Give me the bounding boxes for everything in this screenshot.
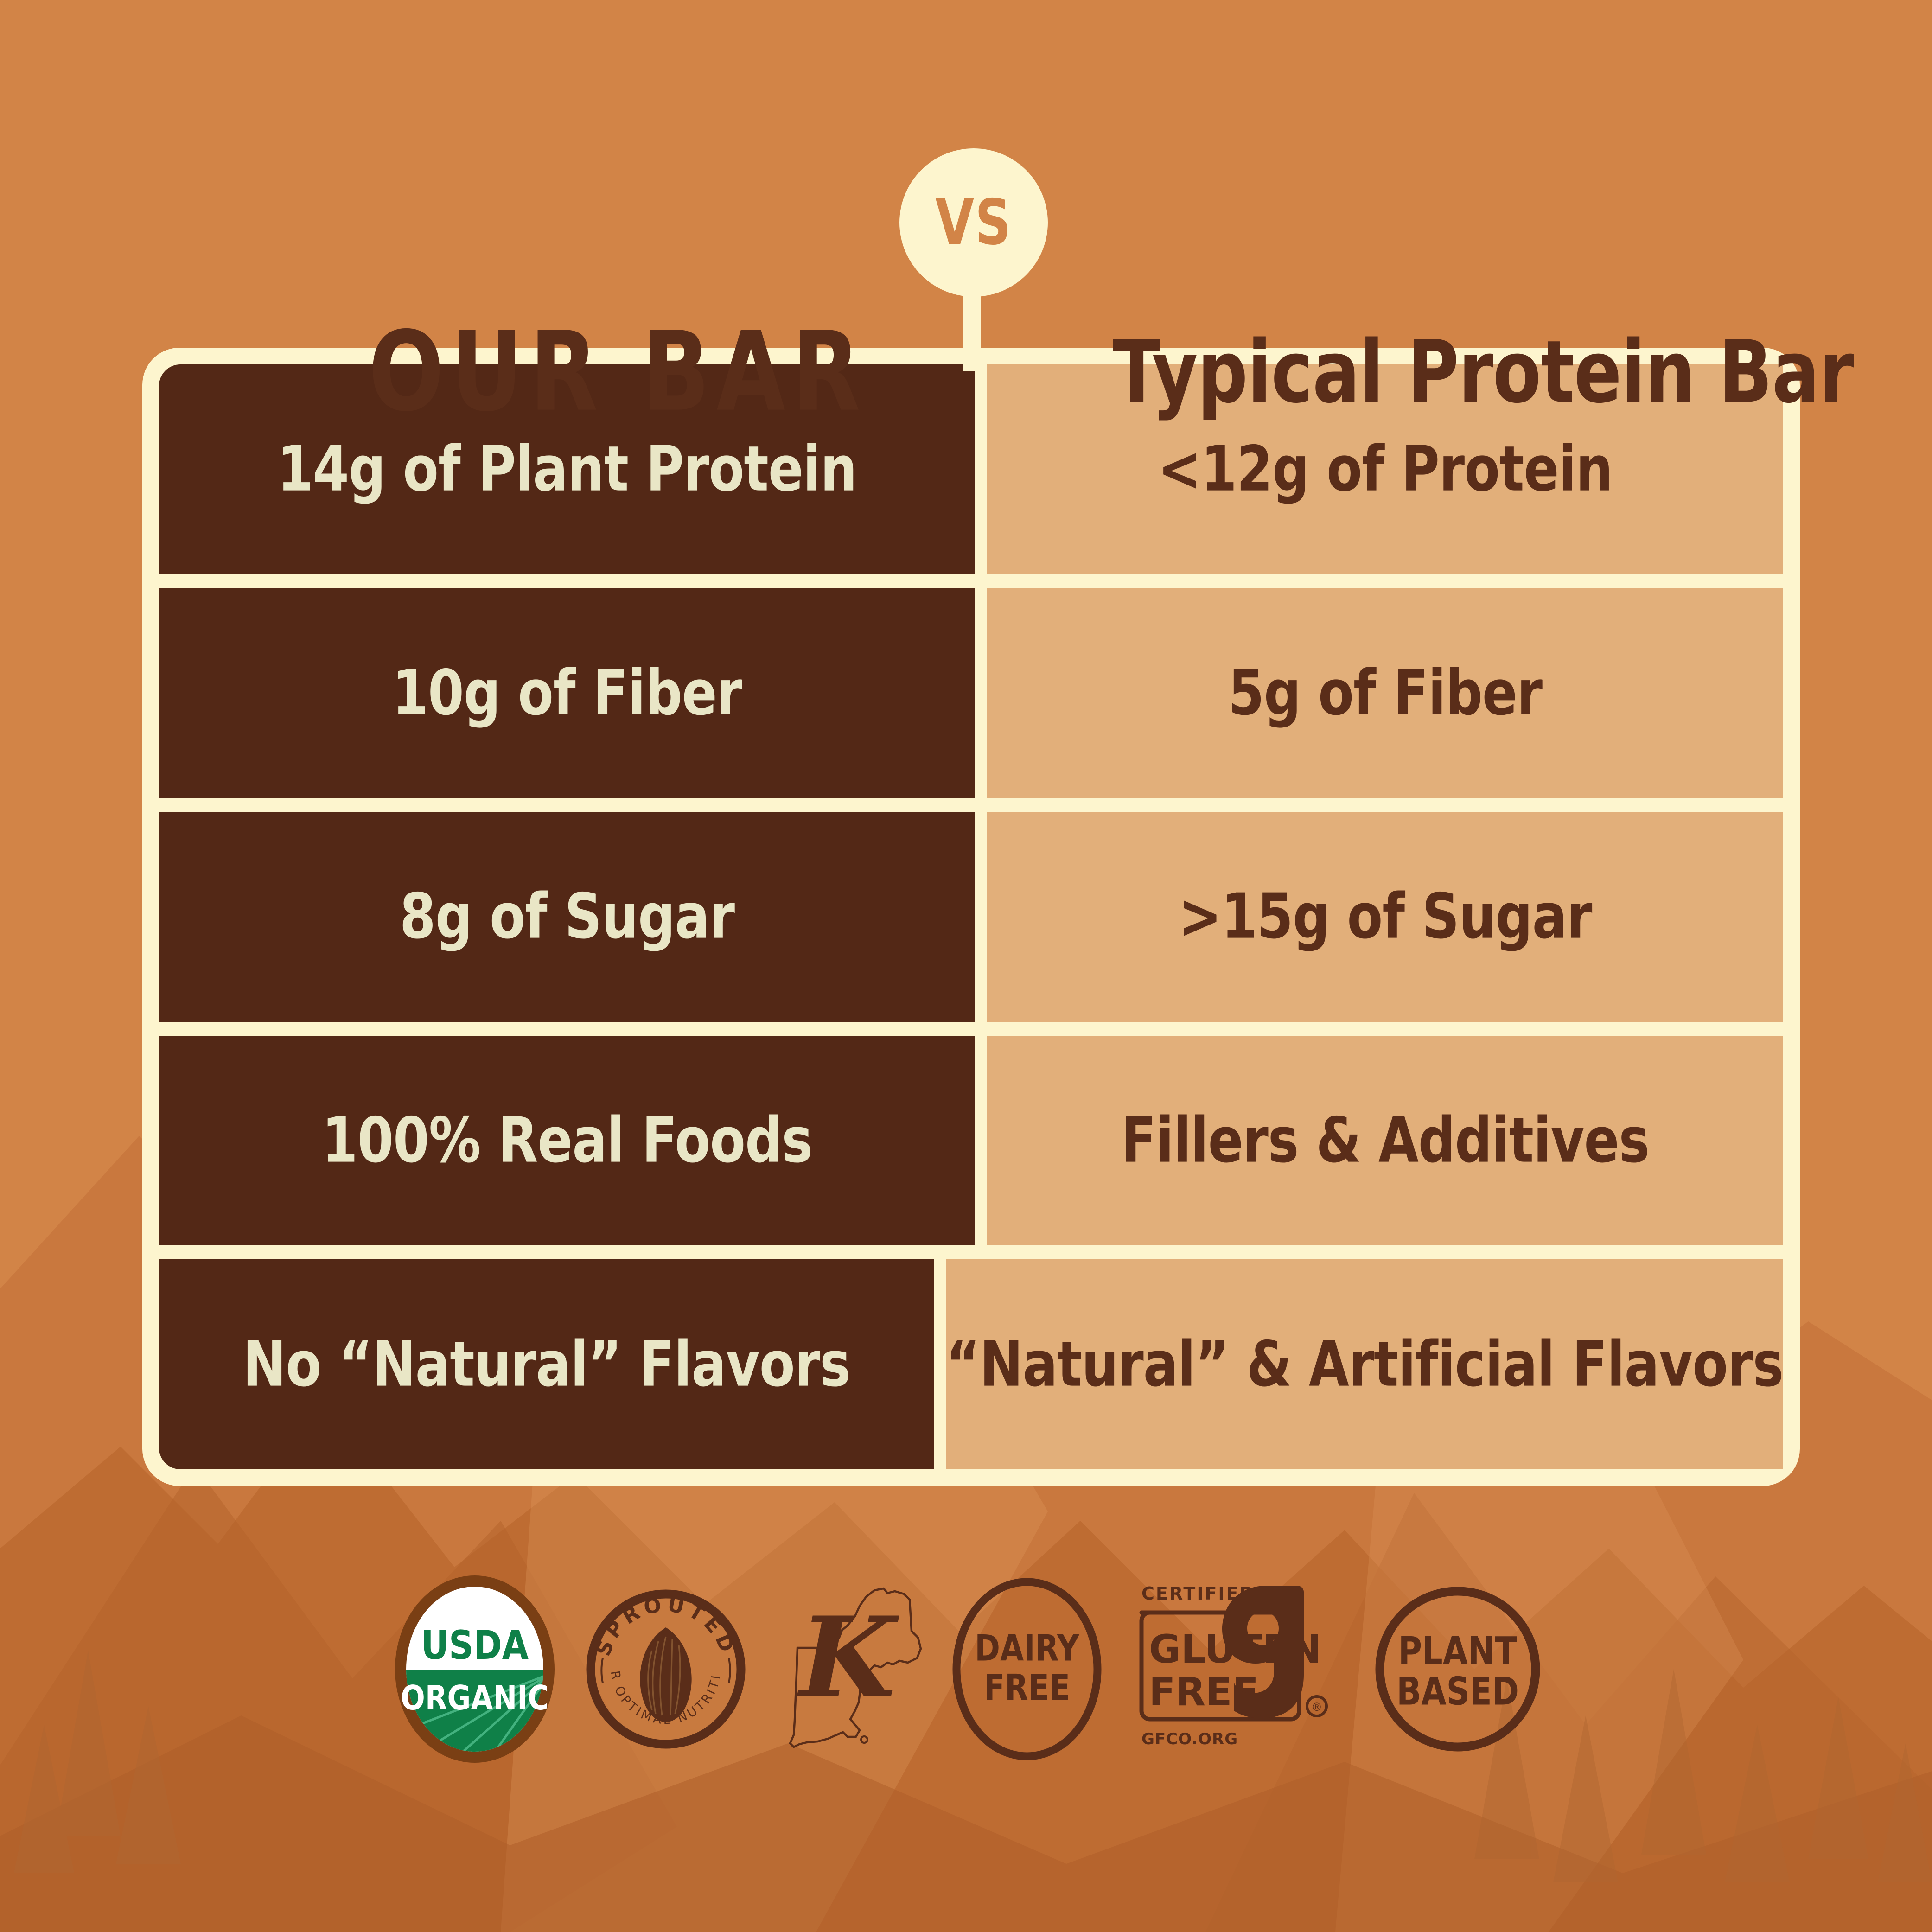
- comparison-table: 14g of Plant Protein <12g of Protein 10g…: [142, 348, 1800, 1486]
- sprouted-icon: SPROUTED FOR OPTIMAL NUTRITION: [582, 1576, 749, 1762]
- page-title-typical: Typical Protein Bar: [1113, 319, 1853, 426]
- certification-badge-row: USDA ORGANIC: [0, 1567, 1932, 1771]
- cell-our-bar-fiber: 10g of Fiber: [159, 588, 975, 798]
- kosher-k-letter: K: [797, 1593, 899, 1722]
- vs-badge: VS: [899, 148, 1048, 297]
- usda-organic-line2: ORGANIC: [401, 1679, 549, 1718]
- cell-our-bar-sugar: 8g of Sugar: [159, 812, 975, 1022]
- dairy-free-line1: DAIRY: [975, 1628, 1079, 1670]
- cell-typical-fiber: 5g of Fiber: [987, 588, 1783, 798]
- plant-based-icon: PLANT BASED: [1374, 1581, 1541, 1757]
- page-title-our-bar: OUR BAR: [285, 311, 867, 434]
- infographic-canvas: OUR BAR Typical Protein Bar VS 14g of Pl…: [0, 0, 1932, 1932]
- table-row: 10g of Fiber 5g of Fiber: [159, 588, 1783, 798]
- cell-typical-sugar: >15g of Sugar: [987, 812, 1783, 1022]
- plant-based-line1: PLANT: [1398, 1629, 1517, 1674]
- cell-our-bar-ingredients: 100% Real Foods: [159, 1036, 975, 1246]
- gluten-free-icon: CERTIFIED GLUTEN FREE ® GFCO.ORG: [1128, 1572, 1350, 1766]
- gluten-free-url: GFCO.ORG: [1141, 1730, 1238, 1748]
- cell-our-bar-flavors: No “Natural” Flavors: [159, 1259, 934, 1469]
- dairy-free-icon: DAIRY FREE: [950, 1576, 1103, 1762]
- vs-label: VS: [935, 186, 1012, 259]
- usda-organic-icon: USDA ORGANIC: [391, 1572, 558, 1766]
- plant-based-line2: BASED: [1396, 1670, 1519, 1714]
- kosher-k-icon: K: [773, 1572, 926, 1766]
- table-row: 100% Real Foods Fillers & Additives: [159, 1036, 1783, 1246]
- usda-organic-line1: USDA: [421, 1622, 528, 1669]
- gluten-free-registered: ®: [1311, 1701, 1322, 1714]
- dairy-free-line2: FREE: [983, 1667, 1070, 1709]
- table-row: No “Natural” Flavors “Natural” & Artific…: [159, 1259, 1783, 1469]
- table-row: 8g of Sugar >15g of Sugar: [159, 812, 1783, 1022]
- cell-typical-flavors: “Natural” & Artificial Flavors: [946, 1259, 1783, 1469]
- cell-typical-ingredients: Fillers & Additives: [987, 1036, 1783, 1246]
